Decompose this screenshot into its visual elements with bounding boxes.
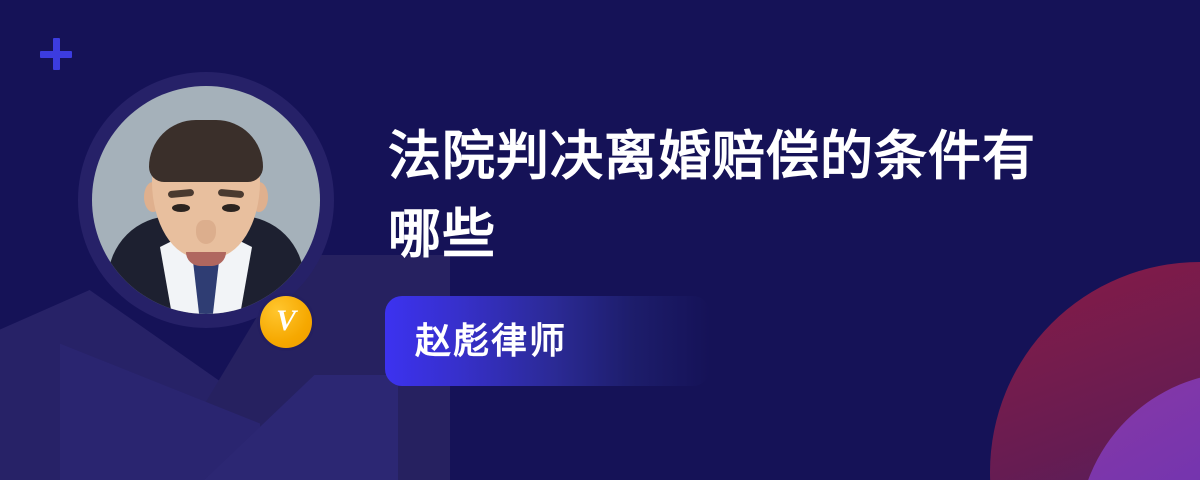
background-polygon-d [60, 330, 260, 480]
decorative-circle-outer [990, 262, 1200, 480]
lawyer-name-button[interactable]: 赵彪律师 [385, 296, 710, 386]
portrait-nose [196, 220, 216, 244]
page-title: 法院判决离婚赔偿的条件有哪些 [388, 118, 1078, 274]
plus-icon [40, 38, 72, 70]
avatar-photo [92, 86, 320, 314]
verified-badge-icon: V [260, 296, 312, 348]
lawyer-article-banner: V 法院判决离婚赔偿的条件有哪些 赵彪律师 [0, 0, 1200, 480]
verified-badge-glyph: V [276, 306, 296, 336]
background-polygon-c [178, 375, 398, 480]
portrait-hair [149, 120, 263, 182]
avatar [78, 72, 334, 328]
portrait-eye-right [222, 204, 240, 212]
decorative-circle-inner [1078, 372, 1200, 480]
portrait-eye-left [172, 204, 190, 212]
lawyer-name-label: 赵彪律师 [415, 323, 567, 359]
content-block: 法院判决离婚赔偿的条件有哪些 [388, 118, 1078, 274]
